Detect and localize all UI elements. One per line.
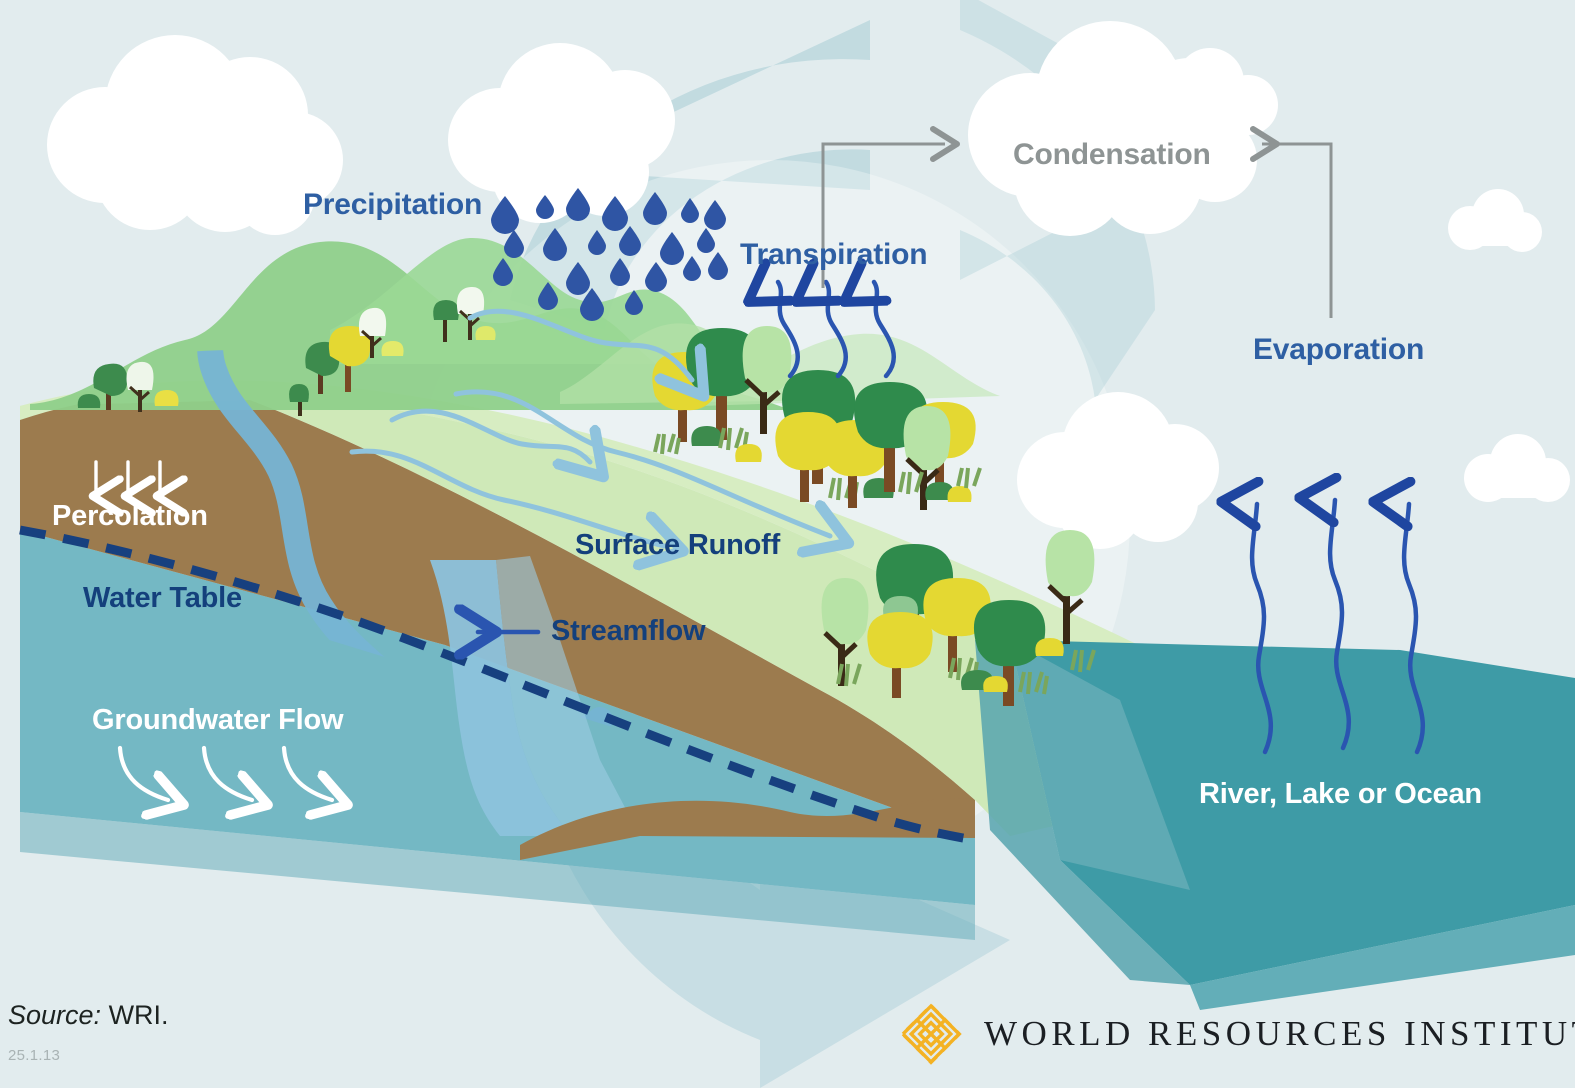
percolation-arrows <box>96 462 160 496</box>
label-groundwater-flow: Groundwater Flow <box>92 704 343 737</box>
label-surface-runoff: Surface Runoff <box>575 529 780 562</box>
label-streamflow: Streamflow <box>551 615 705 648</box>
label-river-lake-ocean: River, Lake or Ocean <box>1199 778 1482 811</box>
groundwater-flow-arrows <box>120 748 332 800</box>
label-precipitation: Precipitation <box>303 188 482 222</box>
source-value: WRI. <box>109 1000 169 1030</box>
surface-runoff-arrows <box>352 311 830 546</box>
figure-code: 25.1.13 <box>8 1047 60 1064</box>
source-label: Source: <box>8 1000 101 1030</box>
raindrops-group <box>491 188 728 321</box>
evaporation-arrows <box>1252 500 1423 752</box>
label-evaporation: Evaporation <box>1253 333 1424 367</box>
label-transpiration: Transpiration <box>740 238 927 272</box>
label-percolation: Percolation <box>52 500 208 533</box>
source-credit: Source: WRI. <box>8 1000 169 1031</box>
wri-wordmark: WORLD RESOURCES INSTITUTE <box>984 1014 1575 1054</box>
label-condensation: Condensation <box>1013 138 1211 172</box>
evaporation-to-condensation-arrow <box>1262 144 1331 318</box>
label-water-table: Water Table <box>83 582 242 615</box>
water-cycle-diagram: Precipitation Condensation Transpiration… <box>0 0 1575 1088</box>
transpiration-arrows <box>778 282 894 376</box>
wri-lattice-logo-icon <box>900 1003 962 1065</box>
flow-arrows-layer <box>0 0 1575 1088</box>
wri-logo: WORLD RESOURCES INSTITUTE <box>900 1003 1575 1065</box>
